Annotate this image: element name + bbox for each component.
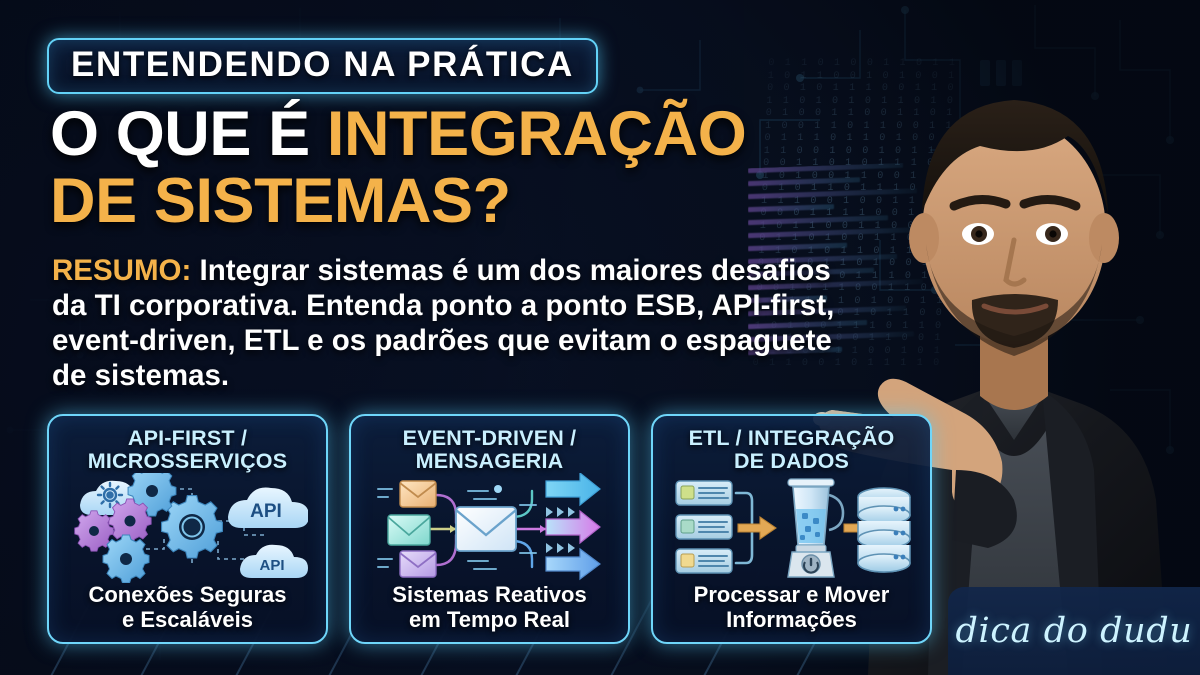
card-api-first[interactable]: API-FIRST / MICROSSERVIÇOS (47, 414, 328, 644)
page-title: O QUE É INTEGRAÇÃO DE SISTEMAS? (50, 104, 930, 232)
eyebrow-badge: ENTENDENDO NA PRÁTICA (47, 38, 598, 94)
headline-gold-part: INTEGRAÇÃO (327, 99, 747, 169)
summary-paragraph: RESUMO: Integrar sistemas é um dos maior… (52, 253, 842, 393)
eyebrow-badge-label: ENTENDENDO NA PRÁTICA (71, 47, 574, 83)
records-blender-database-icon (661, 473, 922, 583)
summary-label: RESUMO: (52, 254, 191, 287)
pillar-cards: API-FIRST / MICROSSERVIÇOS (47, 414, 932, 644)
cloud-api-label-2: API (259, 557, 284, 574)
headline-white-part: O QUE É (50, 99, 327, 169)
channel-signature-text: dica do dudu (956, 611, 1193, 651)
thumbnail-canvas: 0 1 1 0 1 0 0 1 1 0 1 1 1 0 1 1 0 0 1 0 … (0, 0, 1200, 675)
card-etl[interactable]: ETL / INTEGRAÇÃO DE DADOS (651, 414, 932, 644)
cloud-api-label-1: API (250, 501, 282, 522)
headline-line-1: O QUE É INTEGRAÇÃO (50, 104, 930, 165)
card-etl-caption: Processar e Mover Informações (694, 583, 890, 633)
card-etl-title: ETL / INTEGRAÇÃO DE DADOS (689, 427, 895, 473)
channel-signature: dica do dudu (948, 587, 1200, 675)
card-api-first-title: API-FIRST / MICROSSERVIÇOS (88, 427, 288, 473)
card-event-driven-caption: Sistemas Reativos em Tempo Real (392, 583, 586, 633)
card-event-driven[interactable]: EVENT-DRIVEN / MENSAGERIA (349, 414, 630, 644)
card-event-driven-title: EVENT-DRIVEN / MENSAGERIA (403, 427, 577, 473)
headline-line-2: DE SISTEMAS? (50, 171, 930, 232)
card-api-first-caption: Conexões Seguras e Escaláveis (88, 583, 286, 633)
envelopes-broker-arrows-icon (359, 473, 620, 583)
gears-clouds-api-icon: API API (57, 473, 318, 583)
